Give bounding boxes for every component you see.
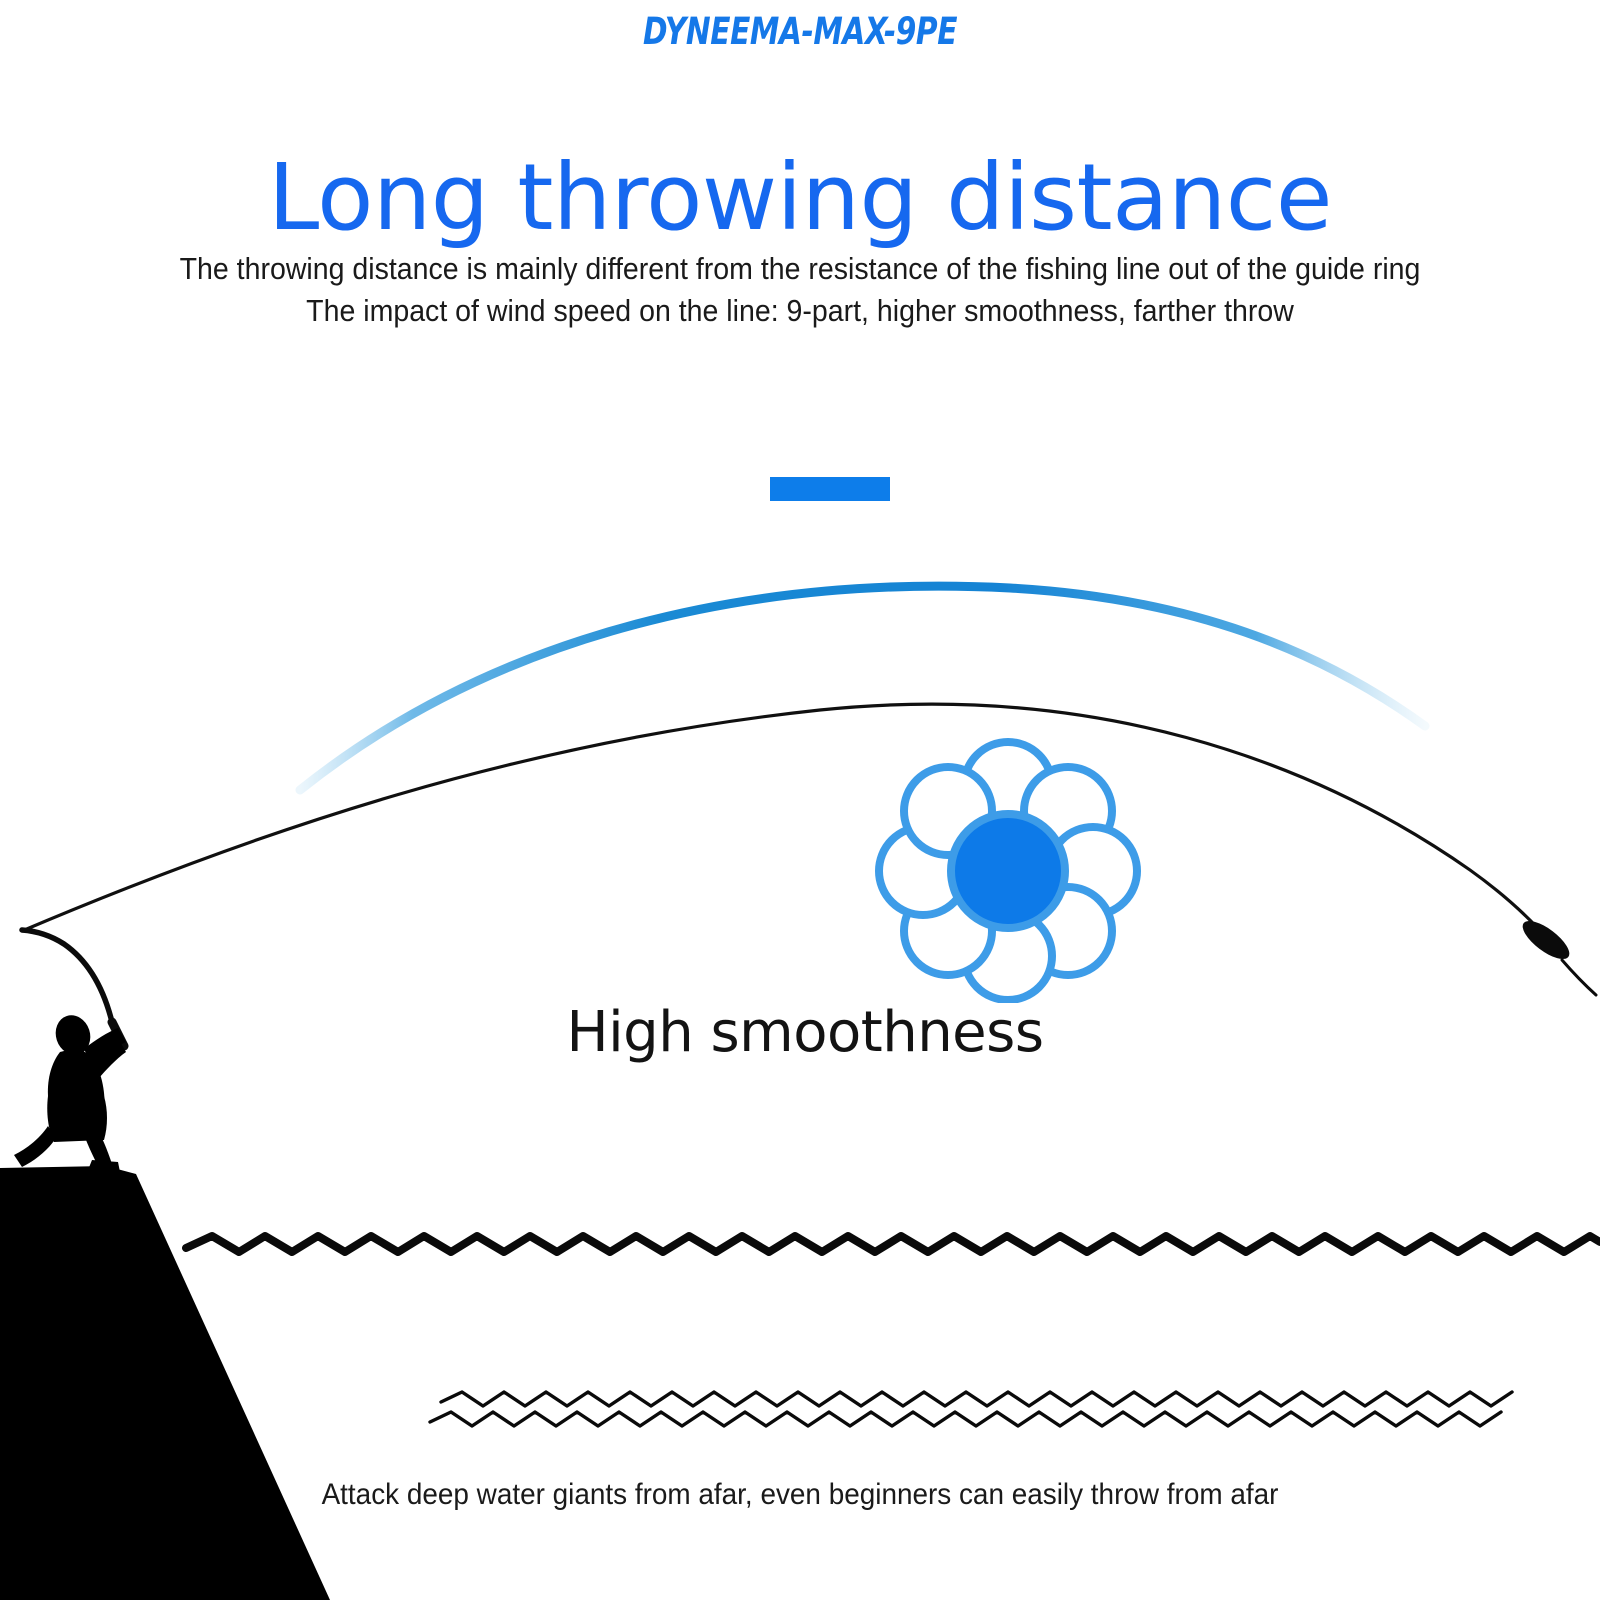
core-strand-circle xyxy=(951,814,1065,928)
strand-rosette-diagram xyxy=(875,738,1145,1003)
casting-scene-illustration xyxy=(0,0,1600,1600)
lure-tail xyxy=(1562,960,1596,995)
smoothness-label: High smoothness xyxy=(0,1000,1600,1065)
flower-icon xyxy=(875,738,1145,1003)
deep-water-wave-lower xyxy=(430,1412,1501,1426)
water-surface-wave xyxy=(186,1236,1600,1252)
fishing-line-trajectory xyxy=(22,704,1552,944)
infographic-page: DYNEEMA-MAX-9PE Long throwing distance T… xyxy=(0,0,1600,1600)
footer-caption: Attack deep water giants from afar, even… xyxy=(56,1478,1544,1512)
cliff-rock xyxy=(0,1166,330,1600)
lure-icon xyxy=(1517,914,1575,965)
deep-water-wave-upper xyxy=(441,1392,1512,1406)
